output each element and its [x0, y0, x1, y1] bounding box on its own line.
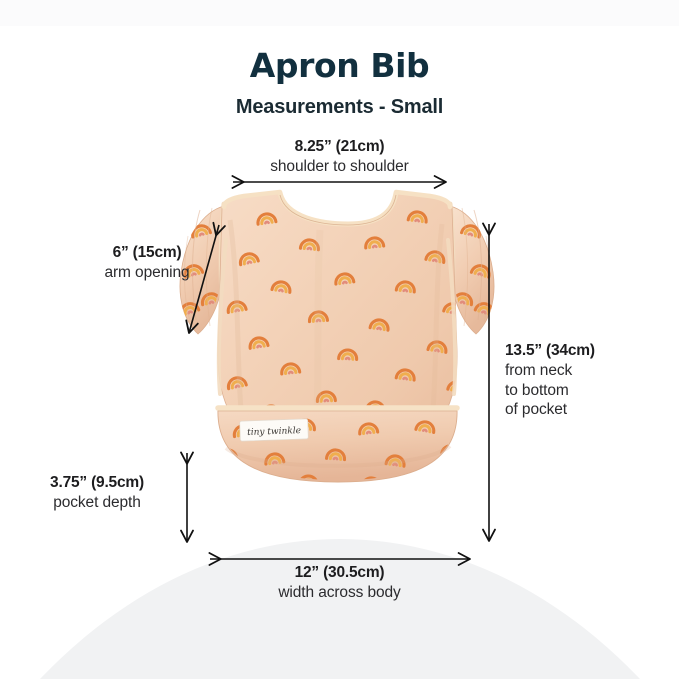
measurement-description-shoulder: shoulder to shoulder — [0, 157, 679, 177]
measurement-label-width-across-body: 12” (30.5cm) width across body — [0, 563, 679, 603]
measurement-description-neck-line3: of pocket — [505, 400, 665, 420]
measurement-description-width: width across body — [0, 583, 679, 603]
measurement-value-pocket-depth: 3.75” (9.5cm) — [14, 473, 180, 493]
measurement-description-neck-line2: to bottom — [505, 381, 665, 401]
bottom-arc-decoration — [0, 539, 679, 679]
brand-label-tag: tiny twinkle — [240, 419, 309, 441]
measurement-description-arm-opening: arm opening — [62, 263, 232, 283]
measurement-description-pocket-depth: pocket depth — [14, 493, 180, 513]
measurement-value-neck-to-pocket: 13.5” (34cm) — [505, 341, 665, 361]
brand-label-text: tiny twinkle — [247, 426, 301, 438]
measurement-value-shoulder: 8.25” (21cm) — [0, 137, 679, 157]
apron-bib-illustration: tiny twinkle — [170, 180, 500, 550]
measurement-label-neck-to-pocket: 13.5” (34cm) from neck to bottom of pock… — [505, 341, 665, 420]
measurement-value-width: 12” (30.5cm) — [0, 563, 679, 583]
measurement-description-neck-line1: from neck — [505, 361, 665, 381]
measurement-label-shoulder: 8.25” (21cm) shoulder to shoulder — [0, 137, 679, 177]
measurement-value-arm-opening: 6” (15cm) — [62, 243, 232, 263]
bib-pocket — [217, 408, 461, 488]
page-subtitle: Measurements - Small — [0, 96, 679, 119]
measurement-label-pocket-depth: 3.75” (9.5cm) pocket depth — [14, 473, 180, 513]
page-title: Apron Bib — [0, 46, 679, 85]
top-background-tint — [0, 0, 679, 26]
measurement-label-arm-opening: 6” (15cm) arm opening — [62, 243, 232, 283]
measurement-diagram-page: Apron Bib Measurements - Small — [0, 0, 679, 679]
